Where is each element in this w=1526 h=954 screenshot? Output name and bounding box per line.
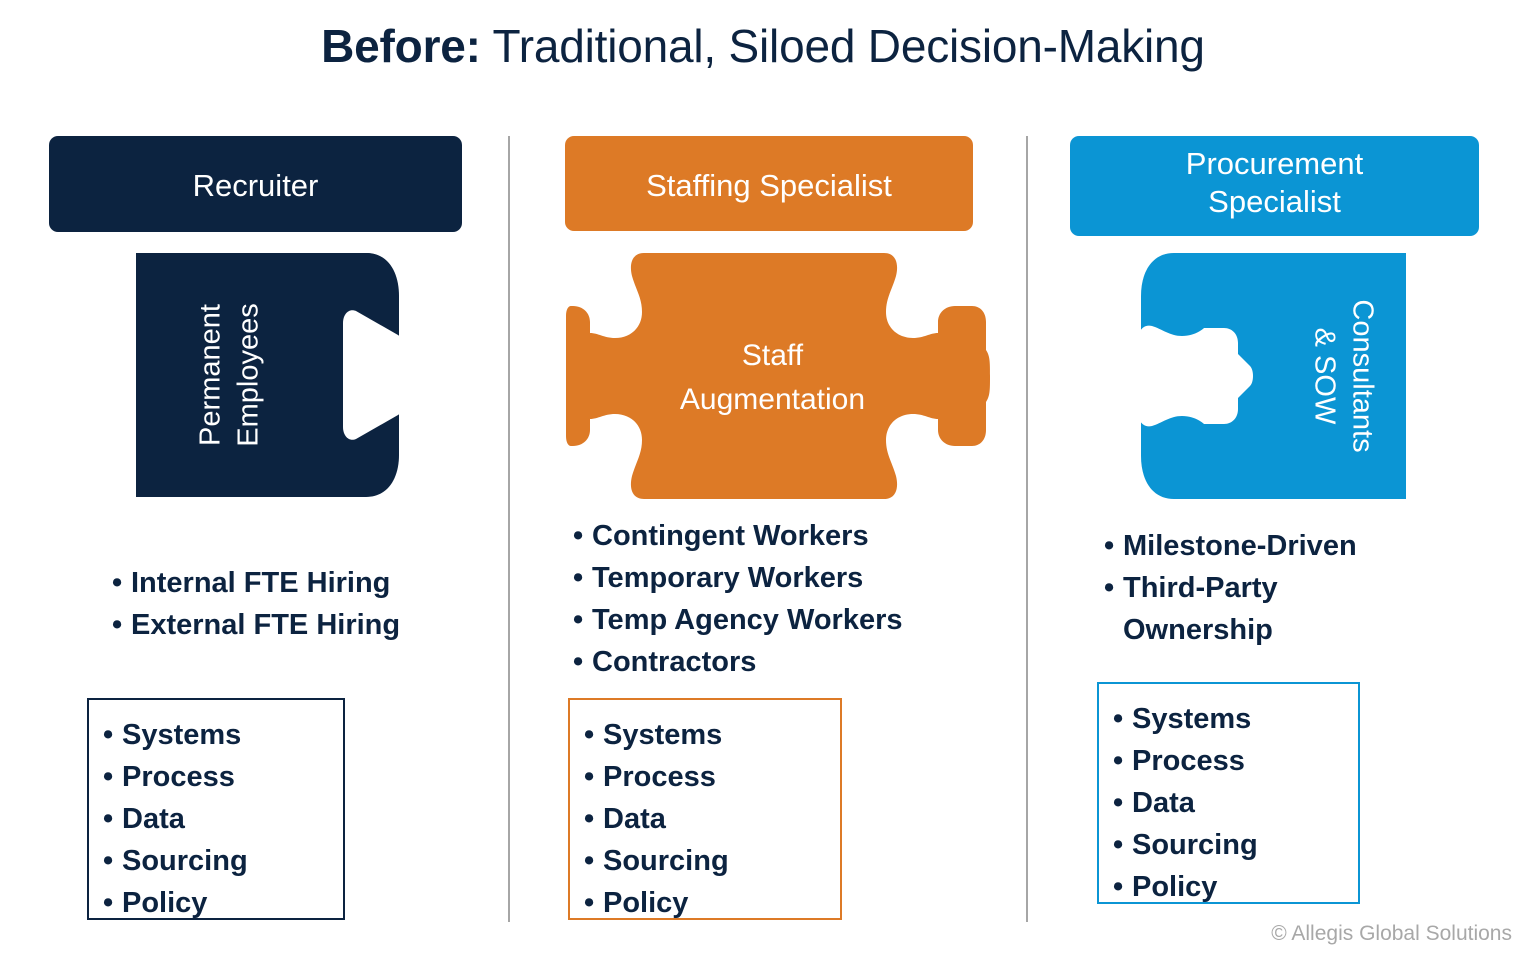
- list-item: • Process: [103, 756, 333, 798]
- list-item-label: Contractors: [592, 641, 973, 683]
- list-item-label: Data: [603, 798, 830, 840]
- list-item-label: Temp Agency Workers: [592, 599, 973, 641]
- bullet-dot-icon: •: [584, 756, 603, 798]
- list-item-label: Systems: [603, 714, 830, 756]
- bullet-dot-icon: •: [103, 840, 122, 882]
- slide-canvas: Before: Traditional, Siloed Decision-Mak…: [0, 0, 1526, 954]
- list-item: • Sourcing: [1113, 824, 1348, 866]
- bullet-dot-icon: •: [584, 840, 603, 882]
- role-header-staffing-specialist[interactable]: Staffing Specialist: [565, 136, 973, 231]
- bullet-dot-icon: •: [1113, 782, 1132, 824]
- list-item-label: Process: [603, 756, 830, 798]
- list-item: • Temp Agency Workers: [573, 599, 973, 641]
- puzzle-label-line-1: Consultants: [1344, 299, 1382, 452]
- puzzle-label-line-2: & SOW: [1306, 299, 1344, 452]
- capability-box-recruiter: • Systems • Process • Data • Sourcing • …: [87, 698, 345, 920]
- list-item: • Contractors: [573, 641, 973, 683]
- list-item: • Policy: [103, 882, 333, 924]
- bullet-dot-icon: •: [584, 714, 603, 756]
- list-item: • Process: [1113, 740, 1348, 782]
- list-item: • Data: [103, 798, 333, 840]
- list-item-label: Systems: [122, 714, 333, 756]
- puzzle-piece-staff-augmentation-label: Staff Augmentation: [566, 250, 991, 502]
- bullet-list-staffing-specialist: • Contingent Workers • Temporary Workers…: [573, 515, 973, 683]
- bullet-list-procurement-specialist: • Milestone-Driven • Third-Party Ownersh…: [1104, 525, 1434, 651]
- bullet-dot-icon: •: [112, 562, 131, 604]
- list-item: • External FTE Hiring: [112, 604, 452, 646]
- list-item: • Systems: [103, 714, 333, 756]
- list-item-label: Process: [122, 756, 333, 798]
- bullet-dot-icon: •: [1113, 866, 1132, 908]
- role-header-procurement-specialist[interactable]: Procurement Specialist: [1070, 136, 1479, 236]
- puzzle-label-line-1: Staff: [680, 334, 865, 378]
- list-item-label: Temporary Workers: [592, 557, 973, 599]
- bullet-dot-icon: •: [103, 798, 122, 840]
- list-item: • Systems: [1113, 698, 1348, 740]
- list-item-label: Third-Party Ownership: [1123, 567, 1434, 651]
- list-item-label: Data: [1132, 782, 1348, 824]
- role-header-staffing-specialist-label: Staffing Specialist: [646, 167, 892, 205]
- role-header-recruiter[interactable]: Recruiter: [49, 136, 462, 232]
- list-item: • Temporary Workers: [573, 557, 973, 599]
- list-item: • Milestone-Driven: [1104, 525, 1434, 567]
- list-item-label: Policy: [122, 882, 333, 924]
- capability-box-procurement-specialist: • Systems • Process • Data • Sourcing • …: [1097, 682, 1360, 904]
- bullet-dot-icon: •: [103, 756, 122, 798]
- page-title-rest: Traditional, Siloed Decision-Making: [481, 20, 1205, 72]
- list-item: • Systems: [584, 714, 830, 756]
- bullet-dot-icon: •: [1113, 740, 1132, 782]
- puzzle-label-line-1: Permanent: [192, 303, 230, 446]
- list-item-label: Data: [122, 798, 333, 840]
- bullet-dot-icon: •: [103, 714, 122, 756]
- list-item: • Sourcing: [103, 840, 333, 882]
- list-item-label: Internal FTE Hiring: [131, 562, 452, 604]
- role-header-procurement-specialist-label: Procurement Specialist: [1186, 145, 1363, 221]
- puzzle-label-line-2: Employees: [230, 303, 268, 446]
- bullet-dot-icon: •: [584, 882, 603, 924]
- list-item: • Policy: [1113, 866, 1348, 908]
- bullet-list-recruiter: • Internal FTE Hiring • External FTE Hir…: [112, 562, 452, 646]
- role-header-line-1: Procurement: [1186, 146, 1363, 181]
- list-item-label: Sourcing: [603, 840, 830, 882]
- bullet-dot-icon: •: [573, 599, 592, 641]
- list-item-label: Policy: [1132, 866, 1348, 908]
- list-item: • Internal FTE Hiring: [112, 562, 452, 604]
- bullet-dot-icon: •: [112, 604, 131, 646]
- capability-box-staffing-specialist: • Systems • Process • Data • Sourcing • …: [568, 698, 842, 920]
- list-item-label: Policy: [603, 882, 830, 924]
- role-header-recruiter-label: Recruiter: [193, 167, 319, 205]
- list-item: • Policy: [584, 882, 830, 924]
- list-item-label: Sourcing: [1132, 824, 1348, 866]
- list-item: • Data: [1113, 782, 1348, 824]
- bullet-dot-icon: •: [1113, 824, 1132, 866]
- list-item-label: Systems: [1132, 698, 1348, 740]
- puzzle-piece-consultants-sow-label: Consultants & SOW: [1138, 250, 1410, 502]
- bullet-dot-icon: •: [1104, 525, 1123, 567]
- bullet-dot-icon: •: [573, 515, 592, 557]
- bullet-dot-icon: •: [103, 882, 122, 924]
- copyright-credit: © Allegis Global Solutions: [1271, 922, 1512, 946]
- list-item: • Third-Party Ownership: [1104, 567, 1434, 651]
- list-item: • Sourcing: [584, 840, 830, 882]
- list-item-label: Milestone-Driven: [1123, 525, 1434, 567]
- role-header-line-2: Specialist: [1208, 184, 1341, 219]
- bullet-dot-icon: •: [573, 557, 592, 599]
- list-item-label: Process: [1132, 740, 1348, 782]
- column-divider-1: [508, 136, 510, 922]
- puzzle-piece-permanent-employees-label: Permanent Employees: [130, 250, 405, 500]
- puzzle-label-line-2: Augmentation: [680, 378, 865, 422]
- page-title: Before: Traditional, Siloed Decision-Mak…: [0, 18, 1526, 74]
- bullet-dot-icon: •: [584, 798, 603, 840]
- bullet-dot-icon: •: [1113, 698, 1132, 740]
- list-item-label: External FTE Hiring: [131, 604, 452, 646]
- list-item: • Process: [584, 756, 830, 798]
- list-item-label: Contingent Workers: [592, 515, 973, 557]
- page-title-prefix: Before:: [321, 20, 481, 72]
- list-item: • Data: [584, 798, 830, 840]
- bullet-dot-icon: •: [573, 641, 592, 683]
- column-divider-2: [1026, 136, 1028, 922]
- list-item: • Contingent Workers: [573, 515, 973, 557]
- list-item-label: Sourcing: [122, 840, 333, 882]
- bullet-dot-icon: •: [1104, 567, 1123, 609]
